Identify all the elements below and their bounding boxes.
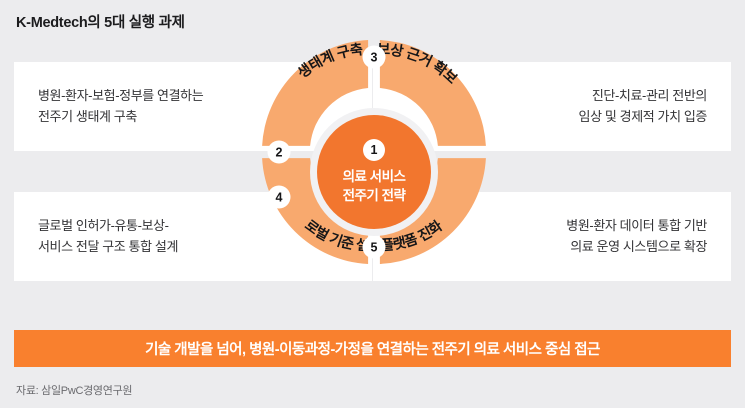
center-number: 1 <box>363 139 385 161</box>
card-bottom-right-text: 병원-환자 데이터 통합 기반 의료 운영 시스템으로 확장 <box>566 216 707 256</box>
card-bottom-left-text: 글로벌 인허가-유통-보상- 서비스 전달 구조 통합 설계 <box>38 216 178 256</box>
center-circle[interactable]: 1 의료 서비스 전주기 전략 <box>317 115 431 229</box>
source-note: 자료: 삼일PwC경영연구원 <box>16 382 132 398</box>
card-top-left-text: 병원-환자-보험-정부를 연결하는 전주기 생태계 구축 <box>38 86 203 126</box>
summary-banner-text: 기술 개발을 넘어, 병원-이동과정-가정을 연결하는 전주기 의료 서비스 중… <box>145 338 600 359</box>
segment-number-3: 3 <box>371 51 378 65</box>
center-label: 의료 서비스 전주기 전략 <box>343 168 406 204</box>
card-top-right-text: 진단-치료-관리 전반의 임상 및 경제적 가치 입증 <box>579 86 707 126</box>
segment-number-4: 4 <box>276 191 283 205</box>
infographic-page: K-Medtech의 5대 실행 과제 병원-환자-보험-정부를 연결하는 전주… <box>0 0 745 408</box>
segment-number-2: 2 <box>276 146 283 160</box>
segment-number-badge-3: 3 <box>363 46 386 69</box>
segment-number-badge-2: 2 <box>268 141 291 164</box>
segment-number-badge-5: 5 <box>363 236 386 259</box>
summary-banner: 기술 개발을 넘어, 병원-이동과정-가정을 연결하는 전주기 의료 서비스 중… <box>14 330 731 367</box>
segment-number-5: 5 <box>371 241 378 255</box>
page-title: K-Medtech의 5대 실행 과제 <box>16 11 185 32</box>
segment-number-badge-4: 4 <box>268 186 291 209</box>
